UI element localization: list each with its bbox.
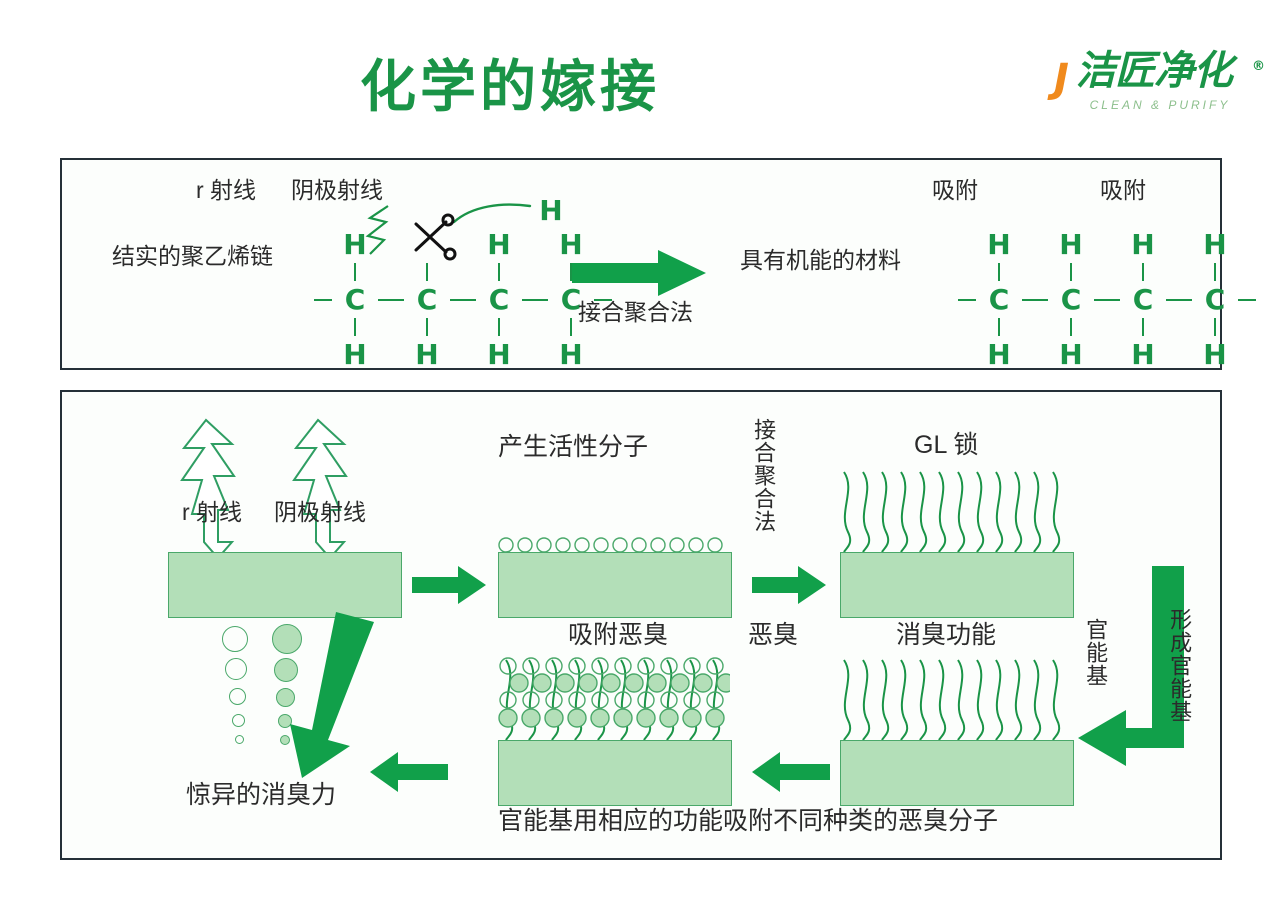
atom-h: H — [1048, 228, 1094, 261]
odor-circle-open — [222, 626, 248, 652]
atom-c: C — [404, 283, 450, 316]
irradiation-bolts-group — [178, 418, 438, 558]
left-arrow-icon-2 — [368, 752, 448, 792]
atom-h: H — [548, 338, 594, 371]
bottom-step1-caption: 惊异的消臭力 — [186, 782, 336, 810]
lightning-bolt-icon-1 — [182, 420, 234, 558]
scissors-icon — [416, 215, 455, 259]
right-arrow-icon-grafting — [572, 250, 708, 296]
substrate-slab-step2 — [498, 552, 732, 618]
brand-logo: J 洁匠净化 ® CLEAN & PURIFY — [1060, 48, 1260, 126]
atom-h: H — [1192, 228, 1238, 261]
bottom-odor-label: 恶臭 — [748, 622, 798, 650]
atom-c: C — [1120, 283, 1166, 316]
substrate-slab-step5 — [498, 740, 732, 806]
bottom-ray-label-cathode: 阴极射线 — [274, 500, 366, 525]
bottom-step2-caption: 吸附恶臭 — [568, 622, 668, 650]
chain-carbons: C C C C — [314, 283, 612, 316]
registered-trademark-icon: ® — [1252, 44, 1264, 90]
atom-h: H — [976, 338, 1022, 371]
functional-group-squiggles-bottom — [840, 658, 1072, 742]
molecule-chain-functional: H H H H C C C C H H H H — [976, 228, 1256, 371]
substrate-slab-step4 — [840, 740, 1074, 806]
bottom-step3-caption: 消臭功能 — [896, 622, 996, 650]
atom-h: H — [976, 228, 1022, 261]
atom-c: C — [332, 283, 378, 316]
chain-top-bonds — [976, 263, 1256, 281]
odor-circle-open — [225, 658, 247, 680]
atom-c: C — [976, 283, 1022, 316]
right-arrow-icon-1 — [412, 566, 488, 604]
substrate-slab-step3 — [840, 552, 1074, 618]
atom-h: H — [1120, 338, 1166, 371]
bottom-panel-caption: 官能基用相应的功能吸附不同种类的恶臭分子 — [498, 808, 998, 836]
lightning-bolt-icon-2 — [294, 420, 346, 558]
chain-bottom-hydrogens: H H H H — [332, 338, 612, 371]
adsorbed-odor-squiggles — [498, 656, 730, 742]
brand-logo-cn-wrapper: J 洁匠净化 ® — [1060, 48, 1260, 94]
logo-j-mark: J — [1054, 56, 1068, 102]
odor-circle-open — [232, 714, 245, 727]
atom-c: C — [1048, 283, 1094, 316]
top-result-label: 具有机能的材料 — [740, 248, 901, 273]
right-arrow-icon-2 — [752, 566, 828, 604]
brand-logo-cn: 洁匠净化 — [1060, 48, 1232, 94]
bottom-step2-title: 产生活性分子 — [498, 434, 648, 462]
bottom-grafting-vertical-label: 接合聚合法 — [752, 418, 775, 550]
atom-h: H — [476, 338, 522, 371]
bottom-ray-label-gamma: r 射线 — [182, 500, 242, 525]
top-chain-label: 结实的聚乙烯链 — [112, 244, 273, 269]
atom-h: H — [1192, 338, 1238, 371]
active-sites-row — [498, 534, 730, 554]
bottom-form-functional-group-label: 形成官能基 — [1168, 608, 1191, 778]
top-ray-label-gamma: r 射线 — [196, 178, 256, 203]
top-process-label: 接合聚合法 — [578, 300, 693, 325]
bottom-step3-title: GL 锁 — [914, 432, 978, 460]
functional-group-squiggles-top — [840, 470, 1072, 554]
atom-h: H — [404, 338, 450, 371]
substrate-slab-step1 — [168, 552, 402, 618]
atom-h-detached: H — [528, 194, 574, 227]
detached-bond-curve — [454, 205, 530, 222]
chain-bottom-hydrogens: H H H H — [976, 338, 1256, 371]
atom-c: C — [1192, 283, 1238, 316]
atom-h: H — [1048, 338, 1094, 371]
top-adsorb-label-2: 吸附 — [1100, 178, 1146, 203]
page-title: 化学的嫁接 — [0, 42, 1020, 123]
brand-logo-en: CLEAN & PURIFY — [1060, 98, 1260, 112]
chain-carbons: C C C C — [958, 283, 1256, 316]
top-adsorb-label-1: 吸附 — [932, 178, 978, 203]
left-arrow-icon-1 — [750, 752, 830, 792]
atom-h: H — [332, 338, 378, 371]
bottom-functional-group-label: 官能基 — [1084, 618, 1107, 728]
atom-c: C — [476, 283, 522, 316]
chain-bottom-bonds — [976, 318, 1256, 336]
lightning-bolt-icon — [368, 206, 388, 254]
odor-circle-open — [235, 735, 244, 744]
chain-bottom-bonds — [332, 318, 612, 336]
odor-circle-open — [229, 688, 246, 705]
atom-h: H — [1120, 228, 1166, 261]
chain-top-hydrogens: H H H H — [976, 228, 1256, 261]
